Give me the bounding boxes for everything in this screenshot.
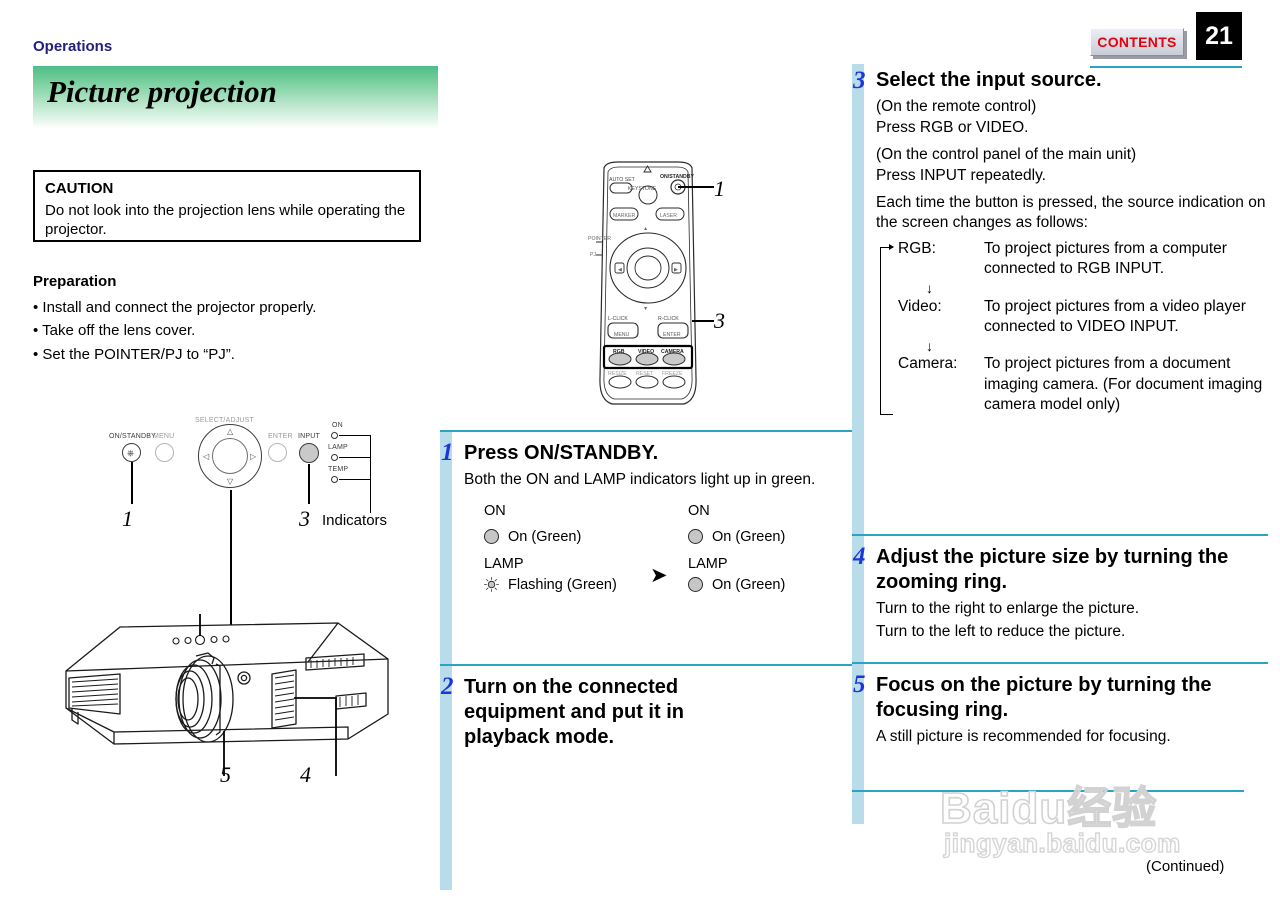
svg-text:▶: ▶	[674, 267, 678, 273]
panel-label-lamp: LAMP	[328, 444, 348, 451]
panel-label-enter: ENTER	[268, 433, 293, 440]
cycle-value: To project pictures from a document imag…	[984, 354, 1268, 415]
svg-text:R-CLICK: R-CLICK	[658, 316, 679, 322]
svg-text:L-CLICK: L-CLICK	[608, 316, 628, 322]
indicator-lamp-circle-icon	[688, 577, 703, 592]
step-divider	[440, 430, 862, 432]
step-1: 1 Press ON/STANDBY. Both the ON and LAMP…	[440, 430, 862, 613]
indicator-lead-vertical	[370, 435, 371, 513]
svg-text:PJ: PJ	[590, 252, 596, 258]
list-item: • Set the POINTER/PJ to “PJ”.	[33, 343, 433, 366]
indicator-on-row: On (Green)	[688, 524, 785, 550]
power-glyph-icon: ⎈	[127, 448, 134, 459]
indicator-state-diagram: ON On (Green) LAMP	[464, 503, 862, 613]
cycle-row: Camera: To project pictures from a docum…	[898, 354, 1268, 415]
step-body: A still picture is recommended for focus…	[876, 727, 1268, 747]
indicator-lamp-circle-icon	[484, 529, 499, 544]
caution-title: CAUTION	[45, 180, 409, 199]
step-heading: Turn on the connected equipment and put …	[464, 675, 774, 751]
svg-text:LASER: LASER	[660, 213, 677, 219]
step-number: 4	[853, 544, 866, 569]
svg-text:RESET: RESET	[636, 371, 654, 377]
step-paragraph: Both the ON and LAMP indicators light up…	[464, 470, 862, 490]
cycle-key: RGB:	[898, 239, 984, 280]
input-source-cycle-list: RGB: To project pictures from a computer…	[876, 239, 1268, 416]
step-body: (On the remote control) Press RGB or VID…	[876, 97, 1268, 234]
step-paragraph: (On the control panel of the main unit)	[876, 145, 1268, 165]
step-paragraph: Turn to the left to reduce the picture.	[876, 622, 1268, 642]
cycle-down-arrow-icon: ↓	[898, 338, 1268, 355]
step-paragraph: (On the remote control)	[876, 97, 1268, 117]
indicator-lamp-label: LAMP	[484, 556, 617, 572]
indicator-on-label: ON	[484, 503, 617, 519]
preparation-list: • Install and connect the projector prop…	[33, 296, 433, 366]
indicator-lamp-label: LAMP	[688, 556, 785, 572]
enter-button-icon	[268, 443, 287, 462]
step-paragraph: Turn to the right to enlarge the picture…	[876, 599, 1268, 619]
page-title-band: Picture projection	[33, 66, 438, 128]
indicator-lamp-state: On (Green)	[712, 577, 785, 593]
step-divider	[852, 534, 1268, 536]
indicator-on-label: ON	[688, 503, 785, 519]
temp-indicator-led-icon	[331, 476, 338, 483]
callout-focusing-ring-number: 5	[220, 762, 231, 788]
step-heading: Focus on the picture by turning the focu…	[876, 673, 1268, 723]
step-number: 2	[441, 674, 454, 699]
list-item: • Install and connect the projector prop…	[33, 296, 433, 319]
remote-control-illustration: AUTO SET KEYSTONE ON/STANDBY MARKER LASE…	[588, 160, 708, 410]
indicator-lead-temp	[339, 479, 371, 480]
pad-left-arrow-icon: ◁	[203, 452, 209, 461]
step-2: 2 Turn on the connected equipment and pu…	[440, 664, 862, 751]
step-paragraph: Press RGB or VIDEO.	[876, 118, 1268, 138]
page-number-badge: 21	[1196, 12, 1242, 60]
section-kicker: Operations	[33, 38, 112, 55]
indicator-on-row: On (Green)	[484, 524, 617, 550]
panel-label-on-standby: ON/STANDBY	[109, 433, 156, 440]
indicator-on-state: On (Green)	[508, 529, 581, 545]
step-divider	[440, 664, 862, 666]
cycle-key: Video:	[898, 297, 984, 338]
contents-button[interactable]: CONTENTS	[1090, 28, 1184, 56]
svg-text:POINTER: POINTER	[588, 236, 611, 242]
select-adjust-pad-inner-icon	[212, 438, 248, 474]
input-callout-lead	[308, 464, 310, 504]
indicator-lead-on	[339, 435, 371, 436]
step-body: Turn to the right to enlarge the picture…	[876, 599, 1268, 642]
cycle-row: Video: To project pictures from a video …	[898, 297, 1268, 338]
svg-text:FREEZE: FREEZE	[662, 371, 683, 377]
indicator-lead-lamp	[339, 457, 371, 458]
remote-callout-power-number: 1	[714, 176, 725, 202]
indicator-lamp-state: Flashing (Green)	[508, 577, 617, 593]
callout-input-number: 3	[299, 506, 310, 532]
on-indicator-led-icon	[331, 432, 338, 439]
continued-label: (Continued)	[1146, 858, 1224, 875]
remote-callout-source-number: 3	[714, 308, 725, 334]
indicator-lamp-row: On (Green)	[688, 572, 785, 598]
step-paragraph: A still picture is recommended for focus…	[876, 727, 1268, 747]
cycle-key: Camera:	[898, 354, 984, 415]
lamp-indicator-led-icon	[331, 454, 338, 461]
svg-text:RGB: RGB	[613, 349, 625, 355]
indicator-lamp-row: Flashing (Green)	[484, 572, 617, 598]
list-item: • Take off the lens cover.	[33, 319, 433, 342]
step-divider	[852, 662, 1268, 664]
indicator-state-before: ON On (Green) LAMP	[484, 503, 617, 598]
pad-right-arrow-icon: ▷	[250, 452, 256, 461]
callout-power-number: 1	[122, 506, 133, 532]
right-arrow-icon: ➤	[650, 565, 668, 586]
step-divider-bottom	[852, 790, 1244, 792]
svg-text:KEYSTONE: KEYSTONE	[628, 186, 657, 192]
preparation-title: Preparation	[33, 273, 116, 290]
right-step-column: 3 Select the input source. (On the remot…	[852, 64, 1244, 824]
panel-label-on: ON	[332, 422, 343, 429]
panel-label-select-adjust: SELECT/ADJUST	[195, 417, 254, 424]
svg-text:MARKER: MARKER	[613, 213, 635, 219]
indicator-on-state: On (Green)	[712, 529, 785, 545]
input-button-icon	[299, 443, 319, 463]
svg-text:MENU: MENU	[614, 332, 630, 338]
step-heading: Press ON/STANDBY.	[464, 441, 862, 466]
manual-page: CONTENTS 21 Operations Picture projectio…	[0, 0, 1280, 906]
caution-box: CAUTION Do not look into the projection …	[33, 170, 421, 242]
panel-label-temp: TEMP	[328, 466, 348, 473]
step-number: 1	[441, 440, 454, 465]
cycle-loop-bracket-icon	[880, 247, 893, 415]
svg-text:VIDEO: VIDEO	[638, 349, 654, 355]
caution-text: Do not look into the projection lens whi…	[45, 201, 409, 240]
page-title: Picture projection	[47, 74, 277, 110]
step-body: Both the ON and LAMP indicators light up…	[464, 470, 862, 490]
step-4: 4 Adjust the picture size by turning the…	[852, 534, 1268, 642]
svg-text:ON/STANDBY: ON/STANDBY	[660, 174, 694, 180]
watermark-sub-text: jingyan.baidu.com	[944, 828, 1181, 859]
remote-source-callout-lead	[692, 320, 714, 322]
svg-text:▲: ▲	[643, 226, 648, 232]
step-heading: Adjust the picture size by turning the z…	[876, 545, 1268, 595]
svg-text:◀: ◀	[618, 267, 622, 273]
remote-power-callout-lead	[678, 186, 714, 188]
cycle-value: To project pictures from a computer conn…	[984, 239, 1268, 280]
callout-zooming-ring-number: 4	[300, 762, 311, 788]
cycle-row: RGB: To project pictures from a computer…	[898, 239, 1268, 280]
indicator-on-circle-icon	[688, 529, 703, 544]
menu-button-icon	[155, 443, 174, 462]
svg-text:▼: ▼	[643, 306, 648, 312]
step-paragraph: Each time the button is pressed, the sou…	[876, 193, 1268, 234]
step-paragraph: Press INPUT repeatedly.	[876, 166, 1268, 186]
middle-step-column: 1 Press ON/STANDBY. Both the ON and LAMP…	[440, 430, 838, 890]
svg-text:RESIZE: RESIZE	[608, 371, 627, 377]
svg-text:CAMERA: CAMERA	[661, 349, 684, 355]
step-heading: Select the input source.	[876, 68, 1268, 93]
panel-label-input: INPUT	[298, 433, 320, 440]
step-number: 5	[853, 672, 866, 697]
indicators-callout-label: Indicators	[322, 512, 387, 529]
pad-up-arrow-icon: △	[227, 427, 233, 436]
svg-text:ENTER: ENTER	[663, 332, 681, 338]
power-callout-lead	[131, 462, 133, 504]
cycle-value: To project pictures from a video player …	[984, 297, 1268, 338]
indicator-state-after: ON On (Green) LAMP On (Green)	[688, 503, 785, 598]
pad-down-arrow-icon: ▽	[227, 477, 233, 486]
cycle-down-arrow-icon: ↓	[898, 280, 1268, 297]
indicator-flashing-icon	[484, 577, 499, 592]
svg-text:AUTO SET: AUTO SET	[609, 177, 636, 183]
step-5: 5 Focus on the picture by turning the fo…	[852, 662, 1268, 748]
panel-label-menu: MENU	[153, 433, 174, 440]
step-number: 3	[853, 68, 866, 93]
step-3: 3 Select the input source. (On the remot…	[852, 64, 1268, 416]
